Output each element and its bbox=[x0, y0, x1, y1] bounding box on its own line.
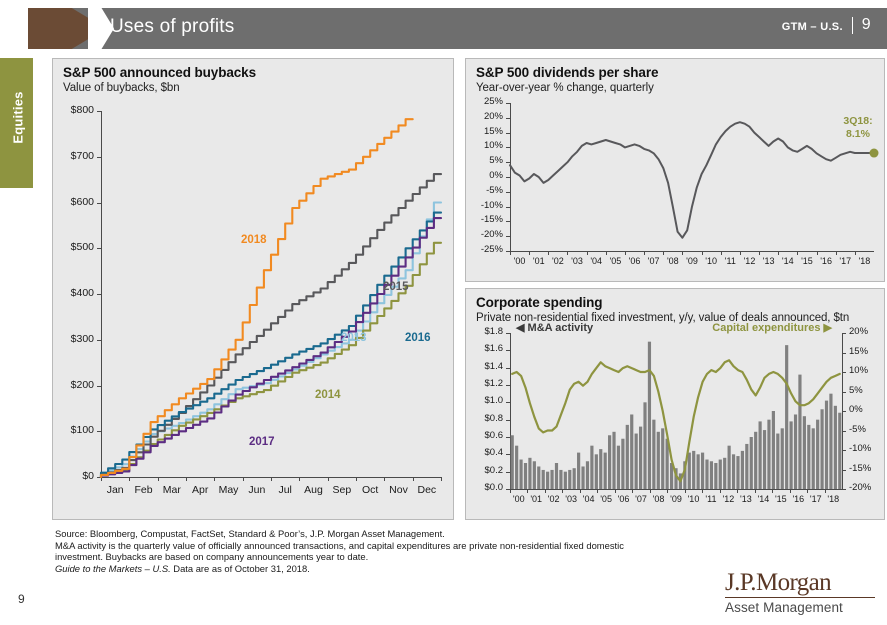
spending-bar bbox=[573, 468, 576, 489]
series-label-2017: 2017 bbox=[249, 436, 275, 448]
dividends-line bbox=[510, 122, 874, 238]
spending-bar bbox=[820, 409, 823, 489]
spending-bar bbox=[555, 463, 558, 489]
spending-bar bbox=[790, 421, 793, 489]
logo-tagline: Asset Management bbox=[725, 600, 875, 615]
spending-bar bbox=[785, 345, 788, 489]
plot-area-buybacks: $0$100$200$300$400$500$600$700$800JanFeb… bbox=[53, 59, 453, 519]
spending-bar bbox=[763, 430, 766, 489]
gtm-label: GTM – U.S. bbox=[782, 21, 843, 33]
footnote-guide-title: Guide to the Markets – U.S. bbox=[55, 563, 171, 574]
spending-bar bbox=[745, 444, 748, 489]
spending-bar bbox=[564, 472, 567, 489]
spending-bar bbox=[519, 460, 522, 489]
spending-bar bbox=[643, 402, 646, 489]
footnote-line-2: M&A activity is the quarterly value of o… bbox=[55, 540, 755, 552]
spending-bar bbox=[732, 454, 735, 489]
spending-bar bbox=[528, 458, 531, 489]
header-divider bbox=[852, 17, 853, 34]
logo-wordmark: J.P.Morgan bbox=[725, 570, 875, 596]
spending-bar bbox=[612, 432, 615, 489]
series-label-2018: 2018 bbox=[241, 234, 267, 246]
spending-bar bbox=[648, 342, 651, 489]
spending-bar bbox=[533, 461, 536, 489]
spending-bar bbox=[798, 375, 801, 489]
spending-bar bbox=[812, 428, 815, 489]
series-label-2016: 2016 bbox=[405, 332, 431, 344]
spending-bar bbox=[550, 470, 553, 489]
spending-bar bbox=[621, 439, 624, 489]
spending-bar bbox=[825, 401, 828, 489]
legend-ma-activity: ◀ M&A activity bbox=[516, 321, 593, 334]
spending-bar bbox=[759, 421, 762, 489]
spending-bar bbox=[754, 432, 757, 489]
spending-bar bbox=[838, 413, 841, 489]
footnote-line-4: Guide to the Markets – U.S. Data are as … bbox=[55, 563, 755, 575]
page-title: Uses of profits bbox=[110, 16, 234, 38]
page-number-bottom-left: 9 bbox=[18, 592, 25, 606]
spending-bar bbox=[608, 435, 611, 489]
header-page-number: 9 bbox=[862, 16, 871, 34]
series-label-2015: 2015 bbox=[383, 281, 409, 293]
spending-bar bbox=[635, 434, 638, 489]
spending-bar bbox=[781, 428, 784, 489]
spending-bar bbox=[546, 472, 549, 489]
plot-area-dividends: 25%20%15%10%5%0%-5%-10%-15%-20%-25%'00'0… bbox=[466, 59, 884, 281]
spending-bar bbox=[803, 416, 806, 489]
spending-bar bbox=[728, 446, 731, 489]
spending-bar bbox=[599, 449, 602, 489]
chart-panel-spending: Corporate spending Private non-residenti… bbox=[465, 288, 885, 520]
right-arrow-icon: ▶ bbox=[824, 322, 832, 334]
spending-bar bbox=[692, 451, 695, 489]
spending-bar bbox=[697, 454, 700, 489]
spending-bar bbox=[652, 420, 655, 489]
spending-bar bbox=[639, 427, 642, 489]
footnote-asof: Data are as of October 31, 2018. bbox=[171, 563, 310, 574]
legend-label-ma-activity: M&A activity bbox=[524, 322, 593, 334]
spending-bar bbox=[590, 446, 593, 489]
spending-bar bbox=[511, 435, 514, 489]
spending-bar bbox=[657, 432, 660, 489]
footnote-line-1: Source: Bloomberg, Compustat, FactSet, S… bbox=[55, 528, 755, 540]
spending-bar bbox=[577, 453, 580, 489]
spending-bar bbox=[542, 470, 545, 489]
spending-bar bbox=[515, 446, 518, 489]
annotation-line-2: 8.1% bbox=[828, 128, 887, 141]
spending-bar bbox=[617, 446, 620, 489]
dividends-annotation: 3Q18:8.1% bbox=[828, 115, 887, 141]
source-footnote: Source: Bloomberg, Compustat, FactSet, S… bbox=[55, 528, 755, 574]
spending-bar bbox=[586, 461, 589, 489]
spending-bar bbox=[794, 414, 797, 489]
spending-bar bbox=[776, 434, 779, 489]
spending-bar bbox=[767, 420, 770, 489]
spending-bar bbox=[834, 406, 837, 489]
spending-bar bbox=[807, 425, 810, 489]
plot-area-spending: $1.8$1.6$1.4$1.2$1.0$0.8$0.6$0.4$0.2$0.0… bbox=[466, 289, 884, 519]
spending-bar bbox=[559, 470, 562, 489]
spending-bar bbox=[816, 420, 819, 489]
spending-bar bbox=[741, 451, 744, 489]
legend-label-capital-expenditures: Capital expenditures bbox=[712, 322, 823, 334]
spending-bar bbox=[595, 454, 598, 489]
spending-bar bbox=[714, 463, 717, 489]
series-label-2013: 2013 bbox=[341, 332, 367, 344]
spending-bar bbox=[626, 425, 629, 489]
spending-bar bbox=[630, 414, 633, 489]
sidebar-item-equities[interactable]: Equities bbox=[0, 58, 33, 188]
spending-bar bbox=[772, 411, 775, 489]
footnote-line-3: investment. Buybacks are based on compan… bbox=[55, 551, 755, 563]
spending-bar bbox=[568, 470, 571, 489]
sidebar-item-label: Equities bbox=[11, 58, 26, 178]
spending-bar bbox=[701, 453, 704, 489]
spending-bar bbox=[719, 460, 722, 489]
series-line-2018 bbox=[101, 119, 413, 477]
header-meta: GTM – U.S. 9 bbox=[782, 18, 871, 36]
spending-bar bbox=[661, 428, 664, 489]
logo-divider bbox=[725, 597, 875, 598]
series-line-2015 bbox=[101, 174, 441, 477]
spending-bar bbox=[524, 463, 527, 489]
spending-bar bbox=[723, 458, 726, 489]
spending-bar bbox=[604, 453, 607, 489]
spending-bar bbox=[537, 466, 540, 489]
dividends-latest-marker bbox=[870, 149, 879, 158]
legend-capital-expenditures: Capital expenditures ▶ bbox=[712, 321, 832, 334]
spending-bar bbox=[581, 466, 584, 489]
jpmorgan-logo: J.P.Morgan Asset Management bbox=[725, 570, 875, 615]
series-layer-dividends bbox=[466, 59, 884, 281]
spending-bar bbox=[705, 460, 708, 489]
spending-bar bbox=[710, 461, 713, 489]
annotation-line-1: 3Q18: bbox=[828, 115, 887, 128]
series-label-2014: 2014 bbox=[315, 389, 341, 401]
spending-bar bbox=[736, 456, 739, 489]
spending-bar bbox=[688, 453, 691, 489]
spending-bar bbox=[829, 394, 832, 489]
chart-panel-buybacks: S&P 500 announced buybacks Value of buyb… bbox=[52, 58, 454, 520]
chart-panel-dividends: S&P 500 dividends per share Year-over-ye… bbox=[465, 58, 885, 282]
spending-bar bbox=[750, 437, 753, 489]
